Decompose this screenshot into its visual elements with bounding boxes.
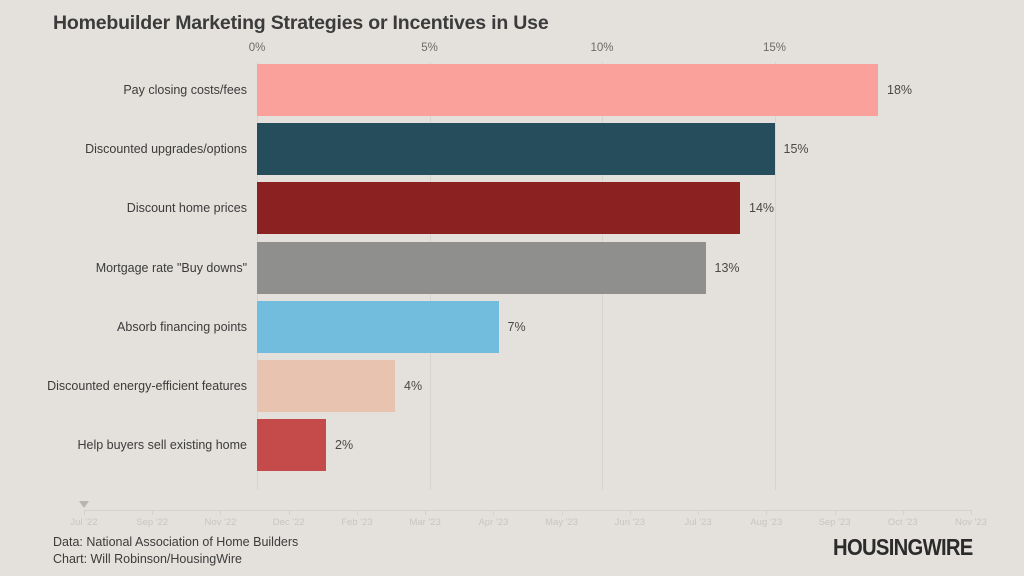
- date-tick: [84, 510, 85, 515]
- ghost-date-axis: Jul '22Sep '22Nov '22Dec '22Feb '23Mar '…: [0, 498, 1024, 532]
- bar-row: Discounted upgrades/options15%: [0, 123, 1024, 182]
- date-tick: [289, 510, 290, 515]
- bar[interactable]: [257, 64, 878, 116]
- category-label: Discounted energy-efficient features: [47, 360, 257, 412]
- date-tick: [630, 510, 631, 515]
- date-tick: [152, 510, 153, 515]
- date-tick: [425, 510, 426, 515]
- bar-value-label: 13%: [706, 242, 740, 294]
- category-label: Pay closing costs/fees: [123, 64, 257, 116]
- date-tick-label: Sep '22: [136, 517, 168, 528]
- bar-value-label: 2%: [326, 419, 353, 471]
- chart-credit: Chart: Will Robinson/HousingWire: [53, 551, 298, 568]
- date-tick-label: Jun '23: [615, 517, 645, 528]
- category-label: Absorb financing points: [117, 301, 257, 353]
- bar-row: Discounted energy-efficient features4%: [0, 360, 1024, 419]
- date-tick: [903, 510, 904, 515]
- date-tick-label: Dec '22: [273, 517, 305, 528]
- date-tick: [971, 510, 972, 515]
- credits: Data: National Association of Home Build…: [53, 534, 298, 568]
- x-tick-label: 15%: [763, 42, 786, 54]
- bar[interactable]: [257, 182, 740, 234]
- bar-row: Pay closing costs/fees18%: [0, 64, 1024, 123]
- x-tick-label: 10%: [590, 42, 613, 54]
- date-tick-label: Nov '23: [955, 517, 987, 528]
- date-tick-label: Sep '23: [819, 517, 851, 528]
- bar-row: Help buyers sell existing home2%: [0, 419, 1024, 478]
- category-label: Discount home prices: [127, 182, 257, 234]
- bar-value-label: 4%: [395, 360, 422, 412]
- date-tick-label: Apr '23: [478, 517, 508, 528]
- date-tick-label: Feb '23: [341, 517, 372, 528]
- date-tick: [766, 510, 767, 515]
- bar[interactable]: [257, 242, 706, 294]
- bar-value-label: 7%: [499, 301, 526, 353]
- date-tick: [357, 510, 358, 515]
- date-tick-label: Jul '23: [684, 517, 711, 528]
- date-tick: [698, 510, 699, 515]
- bar[interactable]: [257, 419, 326, 471]
- date-axis-line: [84, 510, 971, 511]
- bar-row: Mortgage rate "Buy downs"13%: [0, 242, 1024, 301]
- date-tick-label: Mar '23: [409, 517, 440, 528]
- chart-canvas: Homebuilder Marketing Strategies or Ince…: [0, 0, 1024, 576]
- date-tick-label: May '23: [545, 517, 578, 528]
- bar-row: Absorb financing points7%: [0, 301, 1024, 360]
- bar[interactable]: [257, 360, 395, 412]
- bar[interactable]: [257, 123, 775, 175]
- bar[interactable]: [257, 301, 499, 353]
- date-tick: [835, 510, 836, 515]
- date-tick: [220, 510, 221, 515]
- data-credit: Data: National Association of Home Build…: [53, 534, 298, 551]
- housingwire-logo: HOUSINGWIRE: [833, 534, 973, 561]
- date-tick: [493, 510, 494, 515]
- x-tick-label: 0%: [249, 42, 266, 54]
- category-label: Help buyers sell existing home: [77, 419, 257, 471]
- plot-area: 0%5%10%15% Pay closing costs/fees18%Disc…: [0, 0, 1024, 500]
- date-tick-label: Nov '22: [204, 517, 236, 528]
- date-axis-marker-icon: [79, 501, 89, 508]
- date-tick-label: Oct '23: [888, 517, 918, 528]
- category-label: Discounted upgrades/options: [85, 123, 257, 175]
- date-tick-label: Jul '22: [70, 517, 97, 528]
- bar-value-label: 18%: [878, 64, 912, 116]
- date-tick-label: Aug '23: [750, 517, 782, 528]
- category-label: Mortgage rate "Buy downs": [96, 242, 257, 294]
- bar-row: Discount home prices14%: [0, 182, 1024, 241]
- bar-value-label: 15%: [775, 123, 809, 175]
- date-tick: [562, 510, 563, 515]
- x-tick-label: 5%: [421, 42, 438, 54]
- bar-value-label: 14%: [740, 182, 774, 234]
